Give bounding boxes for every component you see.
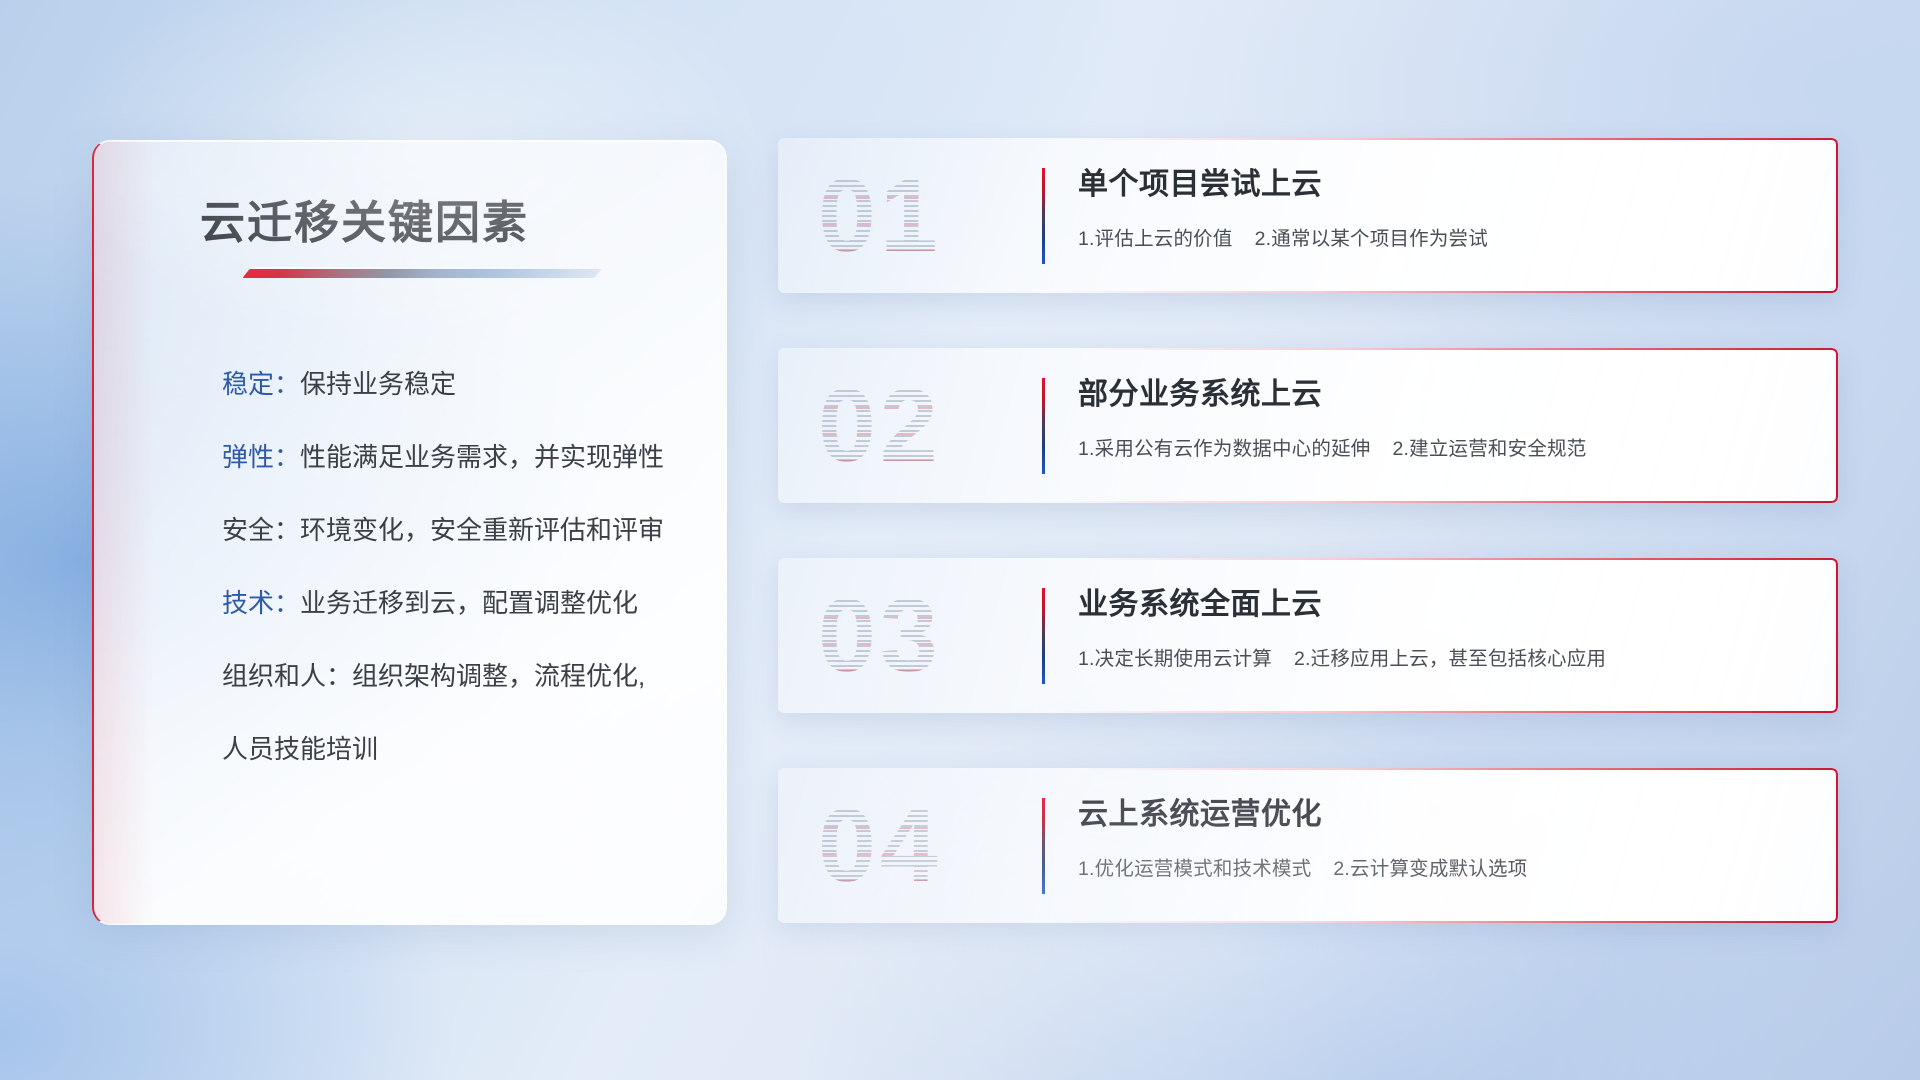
stage-description: 1.优化运营模式和技术模式2.云计算变成默认选项: [1078, 852, 1798, 881]
stage-title: 单个项目尝试上云: [1078, 166, 1798, 204]
stage-description: 1.决定长期使用云计算2.迁移应用上云，甚至包括核心应用: [1078, 642, 1798, 671]
stage-point-2: 2.云计算变成默认选项: [1333, 858, 1527, 880]
stage-divider-bar: [1042, 798, 1045, 894]
stage-title: 业务系统全面上云: [1078, 586, 1798, 624]
list-item: 稳定：保持业务稳定: [222, 371, 686, 397]
slide-canvas: 云迁移关键因素 稳定：保持业务稳定 弹性：性能满足业务需求，并实现弹性 安全：环…: [0, 0, 1920, 1080]
migration-stages-list: 01 01 单个项目尝试上云 1.评估上云的价值2.通常以某个项目作为尝试 02…: [778, 138, 1838, 923]
factor-key: 弹性：: [222, 442, 300, 472]
stage-description: 1.采用公有云作为数据中心的延伸2.建立运营和安全规范: [1078, 432, 1798, 461]
factor-key: 稳定：: [222, 369, 300, 399]
page-title: 云迁移关键因素: [200, 186, 529, 251]
factor-key: 安全：: [222, 515, 300, 545]
factor-value: 环境变化，安全重新评估和评审: [300, 515, 664, 545]
factor-value: 保持业务稳定: [300, 369, 456, 399]
title-underline-accent: [242, 269, 601, 278]
stage-card-04[interactable]: 04 04 云上系统运营优化 1.优化运营模式和技术模式2.云计算变成默认选项: [778, 768, 1838, 923]
factor-list: 稳定：保持业务稳定 弹性：性能满足业务需求，并实现弹性 安全：环境变化，安全重新…: [222, 371, 686, 762]
stage-title: 云上系统运营优化: [1078, 796, 1798, 834]
list-item-continuation: 人员技能培训: [222, 736, 686, 762]
stage-card-03[interactable]: 03 03 业务系统全面上云 1.决定长期使用云计算2.迁移应用上云，甚至包括核…: [778, 558, 1838, 713]
stage-point-1: 1.采用公有云作为数据中心的延伸: [1078, 438, 1370, 460]
stage-point-1: 1.优化运营模式和技术模式: [1078, 858, 1311, 880]
stage-divider-bar: [1042, 588, 1045, 684]
stage-card-01[interactable]: 01 01 单个项目尝试上云 1.评估上云的价值2.通常以某个项目作为尝试: [778, 138, 1838, 293]
factor-value-continued: 人员技能培训: [222, 734, 378, 764]
stage-point-2: 2.通常以某个项目作为尝试: [1255, 228, 1488, 250]
stage-number-03: 03: [818, 580, 1008, 692]
stage-number-04: 04: [818, 790, 1008, 902]
list-item: 安全：环境变化，安全重新评估和评审: [222, 517, 686, 543]
stage-point-2: 2.迁移应用上云，甚至包括核心应用: [1294, 648, 1606, 670]
factor-value: 组织架构调整，流程优化,: [352, 661, 645, 691]
list-item: 技术：业务迁移到云，配置调整优化: [222, 590, 686, 616]
stage-point-1: 1.决定长期使用云计算: [1078, 648, 1272, 670]
stage-description: 1.评估上云的价值2.通常以某个项目作为尝试: [1078, 222, 1798, 251]
stage-point-1: 1.评估上云的价值: [1078, 228, 1233, 250]
list-item: 弹性：性能满足业务需求，并实现弹性: [222, 444, 686, 470]
key-factors-panel: 云迁移关键因素 稳定：保持业务稳定 弹性：性能满足业务需求，并实现弹性 安全：环…: [92, 140, 727, 925]
stage-point-2: 2.建立运营和安全规范: [1392, 438, 1586, 460]
factor-value: 性能满足业务需求，并实现弹性: [300, 442, 664, 472]
factor-value: 业务迁移到云，配置调整优化: [300, 588, 638, 618]
factor-key: 技术：: [222, 588, 300, 618]
stage-divider-bar: [1042, 378, 1045, 474]
stage-title: 部分业务系统上云: [1078, 376, 1798, 414]
stage-number-02: 02: [818, 370, 1008, 482]
list-item: 组织和人：组织架构调整，流程优化,: [222, 663, 686, 689]
stage-number-01: 01: [818, 160, 1008, 272]
stage-card-02[interactable]: 02 02 部分业务系统上云 1.采用公有云作为数据中心的延伸2.建立运营和安全…: [778, 348, 1838, 503]
factor-key: 组织和人：: [222, 661, 352, 691]
stage-divider-bar: [1042, 168, 1045, 264]
